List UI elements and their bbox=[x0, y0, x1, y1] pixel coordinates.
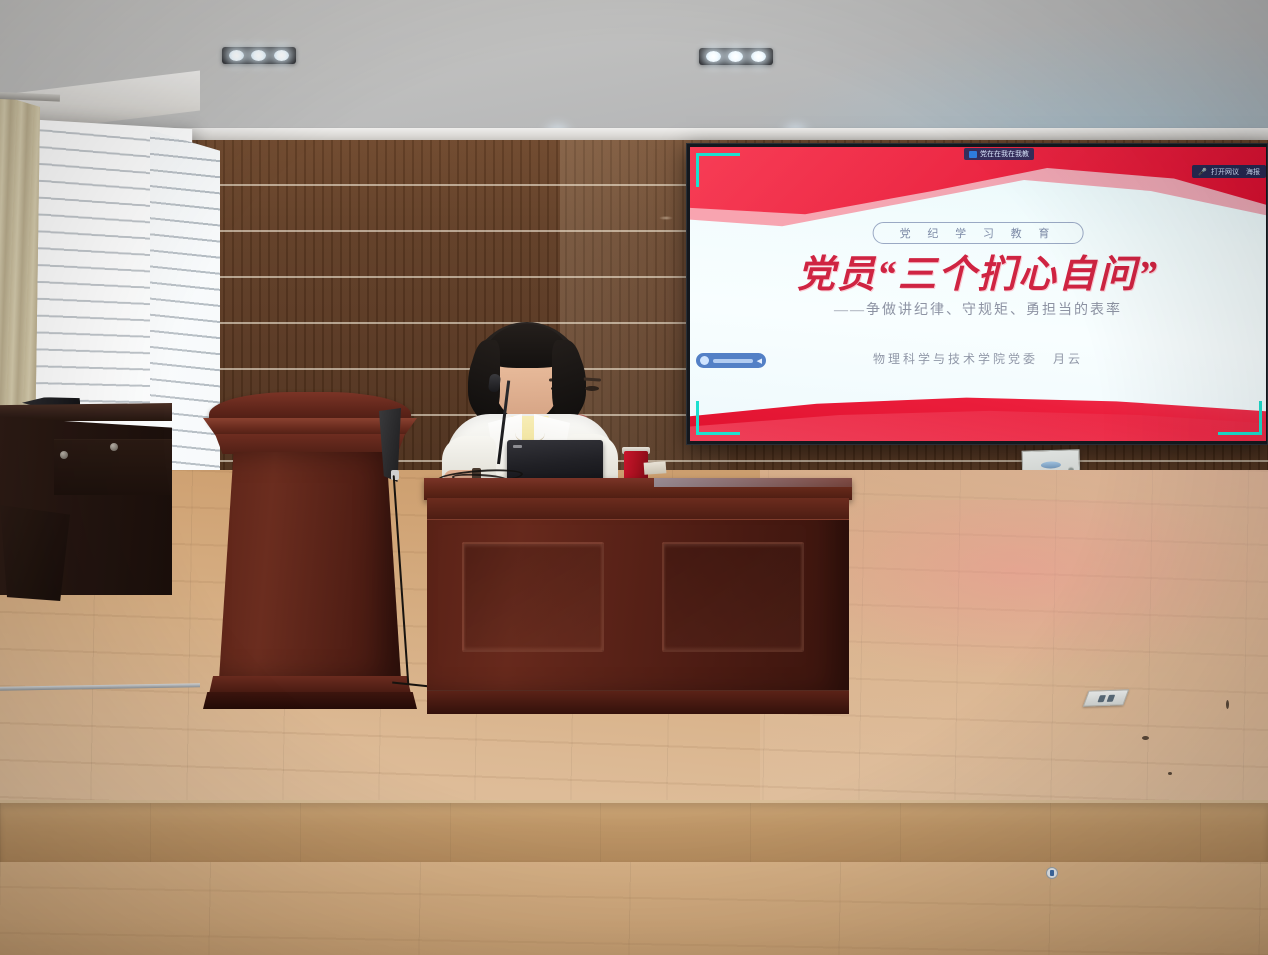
podium-plinth bbox=[203, 692, 417, 709]
side-chair[interactable] bbox=[0, 505, 70, 601]
spot-cluster-right-fixture bbox=[699, 48, 773, 65]
drawer-knob-icon[interactable] bbox=[60, 451, 68, 459]
speaker-podium[interactable] bbox=[203, 392, 417, 717]
slide-topic-badge: 党 纪 学 习 教 育 bbox=[873, 222, 1084, 244]
stage-edge-riser bbox=[0, 800, 1268, 862]
floor-debris bbox=[1142, 736, 1149, 740]
desk-recessed-panel-right bbox=[662, 542, 804, 652]
speaker-avatar-icon bbox=[700, 356, 709, 365]
desk-papers bbox=[644, 461, 667, 475]
microphone-icon: 🎤 bbox=[1198, 168, 1207, 176]
projection-screen[interactable]: 党 纪 学 习 教 育 党员“三个扪心自问” ——争做讲纪律、守规矩、勇担当的表… bbox=[686, 143, 1268, 445]
spotlight-bulb bbox=[706, 51, 721, 62]
presenter-desk[interactable] bbox=[424, 478, 852, 718]
lecture-hall-photo: 党 纪 学 习 教 育 党员“三个扪心自问” ——争做讲纪律、守规矩、勇担当的表… bbox=[0, 0, 1268, 955]
drawer-knob-icon[interactable] bbox=[110, 443, 118, 451]
desk-front-rail bbox=[427, 498, 849, 520]
podium-base bbox=[209, 676, 411, 694]
slide-presenter-footer: 物理科学与技术学院党委 月云 bbox=[873, 350, 1083, 367]
slide-title: 党员“三个扪心自问” bbox=[797, 243, 1159, 298]
presenter-hair-side-right bbox=[552, 340, 584, 422]
ceiling-screen-glow bbox=[668, 0, 1268, 148]
overlay-pill-label-bar bbox=[713, 359, 753, 363]
outlet-socket-icon bbox=[1106, 694, 1115, 701]
spotlight-bulb bbox=[251, 50, 266, 61]
spotlight-bulb bbox=[728, 51, 743, 62]
floor-debris bbox=[1168, 772, 1172, 775]
lower-floor bbox=[0, 862, 1268, 955]
desk-recessed-panel-left bbox=[462, 542, 604, 652]
panel-label-plate bbox=[1041, 462, 1061, 470]
overlay-badge-top[interactable]: 党在在我在我教 bbox=[964, 148, 1034, 160]
overlay-badge-right[interactable]: 🎤 打开网议 海报 bbox=[1192, 165, 1266, 178]
floor-marker bbox=[1046, 867, 1058, 879]
floor-debris bbox=[1226, 700, 1229, 709]
slide-subtitle: ——争做讲纪律、守规矩、勇担当的表率 bbox=[834, 299, 1122, 319]
overlay-app-icon bbox=[969, 151, 977, 158]
overlay-speaker-pill[interactable]: ◀ bbox=[696, 353, 766, 368]
slide-text-block: 党 纪 学 习 教 育 党员“三个扪心自问” ——争做讲纪律、守规矩、勇担当的表… bbox=[690, 147, 1266, 441]
floor-power-outlet[interactable] bbox=[1083, 689, 1129, 706]
overlay-badge-top-label: 党在在我在我教 bbox=[980, 149, 1029, 159]
desk-top-reflection bbox=[654, 478, 852, 487]
side-desk-top bbox=[0, 403, 172, 421]
overlay-badge-right-label: 打开网议 海报 bbox=[1211, 167, 1260, 177]
desk-top-surface bbox=[424, 478, 852, 500]
chevron-left-icon[interactable]: ◀ bbox=[757, 357, 762, 365]
podium-neck bbox=[215, 434, 405, 454]
spotlight-bulb bbox=[229, 50, 244, 61]
presenter-eye-right bbox=[585, 386, 599, 391]
podium-body bbox=[219, 452, 401, 680]
spot-cluster-left-fixture bbox=[222, 47, 296, 64]
presentation-slide: 党 纪 学 习 教 育 党员“三个扪心自问” ——争做讲纪律、守规矩、勇担当的表… bbox=[690, 147, 1266, 441]
desk-kick-plate bbox=[427, 690, 849, 714]
spotlight-bulb bbox=[751, 51, 766, 62]
outlet-socket-icon bbox=[1097, 695, 1106, 702]
spotlight-bulb bbox=[274, 50, 289, 61]
